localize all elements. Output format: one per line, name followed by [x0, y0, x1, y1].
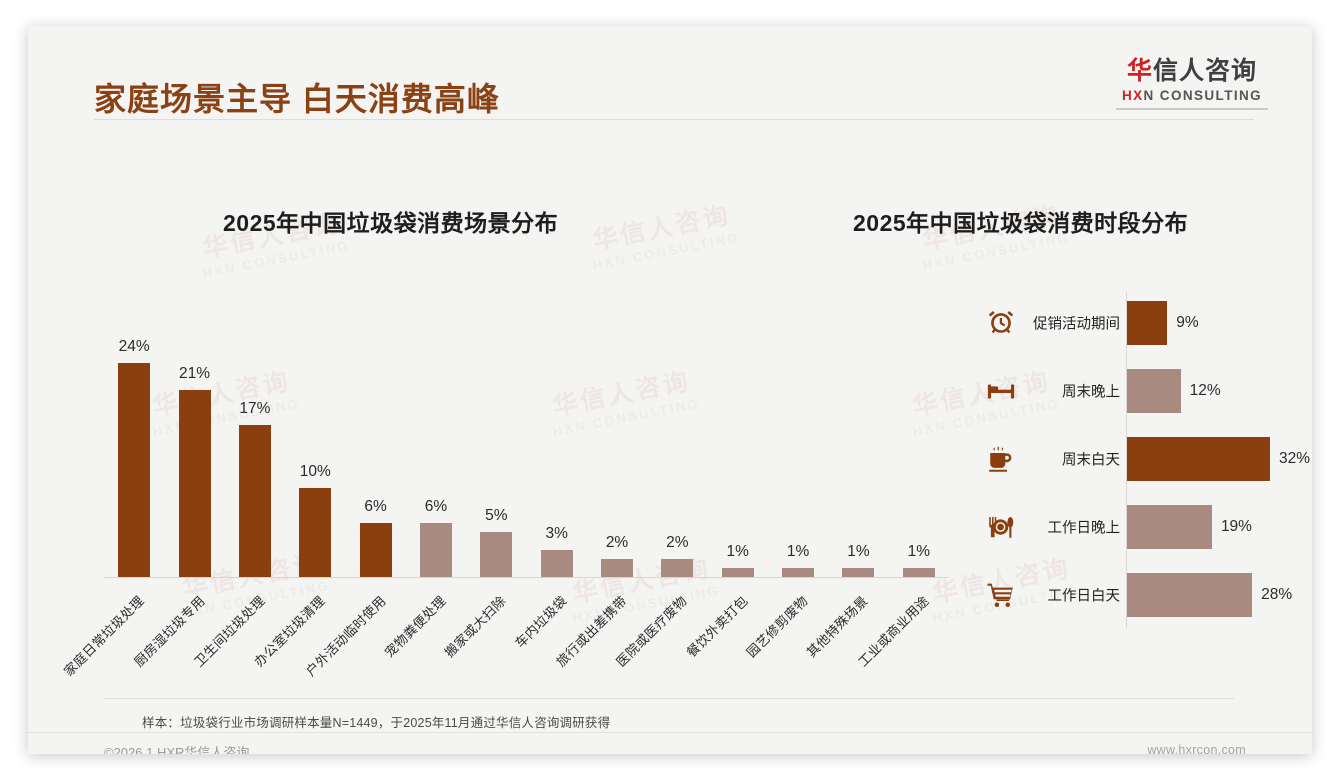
column-category-label: 家庭日常垃圾处理 — [59, 591, 148, 680]
footer-divider — [28, 732, 1312, 733]
column-bar-value: 1% — [727, 543, 749, 561]
bar-value-label: 12% — [1190, 382, 1221, 400]
column-bar-item[interactable]: 6%宠物粪便处理 — [406, 287, 466, 577]
column-bar-value: 21% — [179, 365, 210, 383]
dining-plate-icon — [984, 510, 1018, 544]
bar-fill[interactable] — [1127, 437, 1270, 481]
column-bar-item[interactable]: 24%家庭日常垃圾处理 — [104, 287, 164, 577]
column-category-label: 搬家或大扫除 — [440, 591, 510, 661]
logo-text-en: HXN CONSULTING — [1116, 88, 1268, 103]
column-bar-item[interactable]: 1%餐饮外卖打包 — [708, 287, 768, 577]
bar-chart-row[interactable]: 周末白天32% — [958, 430, 1288, 488]
column-chart-axis — [104, 577, 949, 578]
bar-fill[interactable] — [1127, 369, 1181, 413]
column-bar-item[interactable]: 2%医院或医疗废物 — [647, 287, 707, 577]
column-bar-value: 24% — [119, 338, 150, 356]
bar-category-label: 周末晚上 — [1020, 381, 1120, 402]
website-url: www.hxrcon.com — [1147, 743, 1246, 754]
column-bar-value: 10% — [300, 463, 331, 481]
column-bar-item[interactable]: 1%工业或商业用途 — [889, 287, 949, 577]
column-bar-item[interactable]: 3%车内垃圾袋 — [527, 287, 587, 577]
column-bar-item[interactable]: 1%园艺修剪废物 — [768, 287, 828, 577]
shopping-cart-icon — [984, 578, 1018, 612]
column-bar-item[interactable]: 5%搬家或大扫除 — [466, 287, 526, 577]
column-bar-value: 1% — [847, 543, 869, 561]
column-bar[interactable] — [360, 523, 392, 577]
bar-value-label: 32% — [1279, 450, 1310, 468]
bed-icon — [984, 374, 1018, 408]
column-bar-item[interactable]: 6%户外活动临时使用 — [345, 287, 405, 577]
watermark: 华信人咨询 HXN CONSULTING — [585, 194, 742, 273]
column-bar-item[interactable]: 2%旅行或出差携带 — [587, 287, 647, 577]
column-bar-item[interactable]: 1%其他特殊场景 — [828, 287, 888, 577]
header-divider — [94, 119, 1254, 120]
column-bar-value: 1% — [908, 543, 930, 561]
bar-chart-row[interactable]: 周末晚上12% — [958, 362, 1288, 420]
column-bar-value: 1% — [787, 543, 809, 561]
column-bar[interactable] — [842, 568, 874, 577]
logo-underline — [1116, 108, 1268, 110]
sample-note: 样本：垃圾袋行业市场调研样本量N=1449，于2025年11月通过华信人咨询调研… — [142, 712, 610, 731]
column-bar-value: 2% — [606, 534, 628, 552]
column-category-label: 餐饮外卖打包 — [681, 591, 751, 661]
column-bar[interactable] — [722, 568, 754, 577]
bar-chart-row[interactable]: 工作日白天28% — [958, 566, 1288, 624]
column-category-label: 车内垃圾袋 — [510, 591, 570, 651]
column-bar[interactable] — [541, 550, 573, 577]
logo-char-hua: 华 — [1127, 57, 1153, 85]
logo-text-cn: 华信人咨询 — [1116, 58, 1268, 85]
slide-header: 家庭场景主导 白天消费高峰 华信人咨询 HXN CONSULTING — [28, 26, 1312, 119]
logo-text-en-rest: N CONSULTING — [1144, 88, 1263, 103]
watermark-cn: 华信人咨询 — [585, 194, 739, 258]
column-bar-value: 6% — [425, 498, 447, 516]
bar-category-label: 周末白天 — [1020, 449, 1120, 470]
column-bar-item[interactable]: 10%办公室垃圾清理 — [285, 287, 345, 577]
logo-text-cn-rest: 信人咨询 — [1153, 57, 1257, 85]
bar-chart-title: 2025年中国垃圾袋消费时段分布 — [853, 204, 1188, 238]
column-bar[interactable] — [420, 523, 452, 577]
column-category-label: 园艺修剪废物 — [742, 591, 812, 661]
brand-logo: 华信人咨询 HXN CONSULTING — [1116, 58, 1268, 110]
bar-fill[interactable] — [1127, 573, 1252, 617]
note-divider — [104, 698, 1234, 699]
column-bar-value: 17% — [239, 400, 270, 418]
column-chart-title: 2025年中国垃圾袋消费场景分布 — [223, 204, 558, 238]
column-category-label: 宠物粪便处理 — [380, 591, 450, 661]
bar-value-label: 19% — [1221, 518, 1252, 536]
column-bar-value: 6% — [364, 498, 386, 516]
scenario-distribution-chart: 24%家庭日常垃圾处理21%厨房湿垃圾专用17%卫生间垃圾处理10%办公室垃圾清… — [104, 288, 949, 578]
column-bar-value: 3% — [545, 525, 567, 543]
column-bar[interactable] — [782, 568, 814, 577]
column-bar[interactable] — [903, 568, 935, 577]
watermark-en: HXN CONSULTING — [591, 230, 741, 273]
watermark-en: HXN CONSULTING — [201, 238, 351, 281]
copyright-text: ©2026.1 HXR华信人咨询 — [104, 742, 249, 754]
bar-fill[interactable] — [1127, 505, 1212, 549]
coffee-cup-icon — [984, 442, 1018, 476]
bar-value-label: 9% — [1176, 314, 1198, 332]
bar-category-label: 工作日晚上 — [1020, 517, 1120, 538]
bar-value-label: 28% — [1261, 586, 1292, 604]
column-bar[interactable] — [239, 425, 271, 577]
column-bar[interactable] — [299, 488, 331, 577]
column-bar-value: 5% — [485, 507, 507, 525]
alarm-clock-icon — [984, 306, 1018, 340]
bar-fill[interactable] — [1127, 301, 1167, 345]
column-bar-value: 2% — [666, 534, 688, 552]
column-bar[interactable] — [480, 532, 512, 577]
logo-text-en-hx: HX — [1122, 88, 1144, 103]
bar-category-label: 促销活动期间 — [1020, 313, 1120, 334]
column-bar-item[interactable]: 17%卫生间垃圾处理 — [225, 287, 285, 577]
column-bar[interactable] — [118, 363, 150, 577]
column-bar[interactable] — [661, 559, 693, 577]
slide-canvas: 华信人咨询 HXN CONSULTING 华信人咨询 HXN CONSULTIN… — [28, 26, 1312, 754]
bar-chart-row[interactable]: 促销活动期间9% — [958, 294, 1288, 352]
time-distribution-chart: 促销活动期间9%周末晚上12%周末白天32%工作日晚上19%工作日白天28% — [958, 284, 1288, 634]
bar-category-label: 工作日白天 — [1020, 585, 1120, 606]
page-title: 家庭场景主导 白天消费高峰 — [94, 74, 500, 120]
column-bar[interactable] — [179, 390, 211, 577]
column-bar-item[interactable]: 21%厨房湿垃圾专用 — [164, 287, 224, 577]
column-bar[interactable] — [601, 559, 633, 577]
bar-chart-row[interactable]: 工作日晚上19% — [958, 498, 1288, 556]
